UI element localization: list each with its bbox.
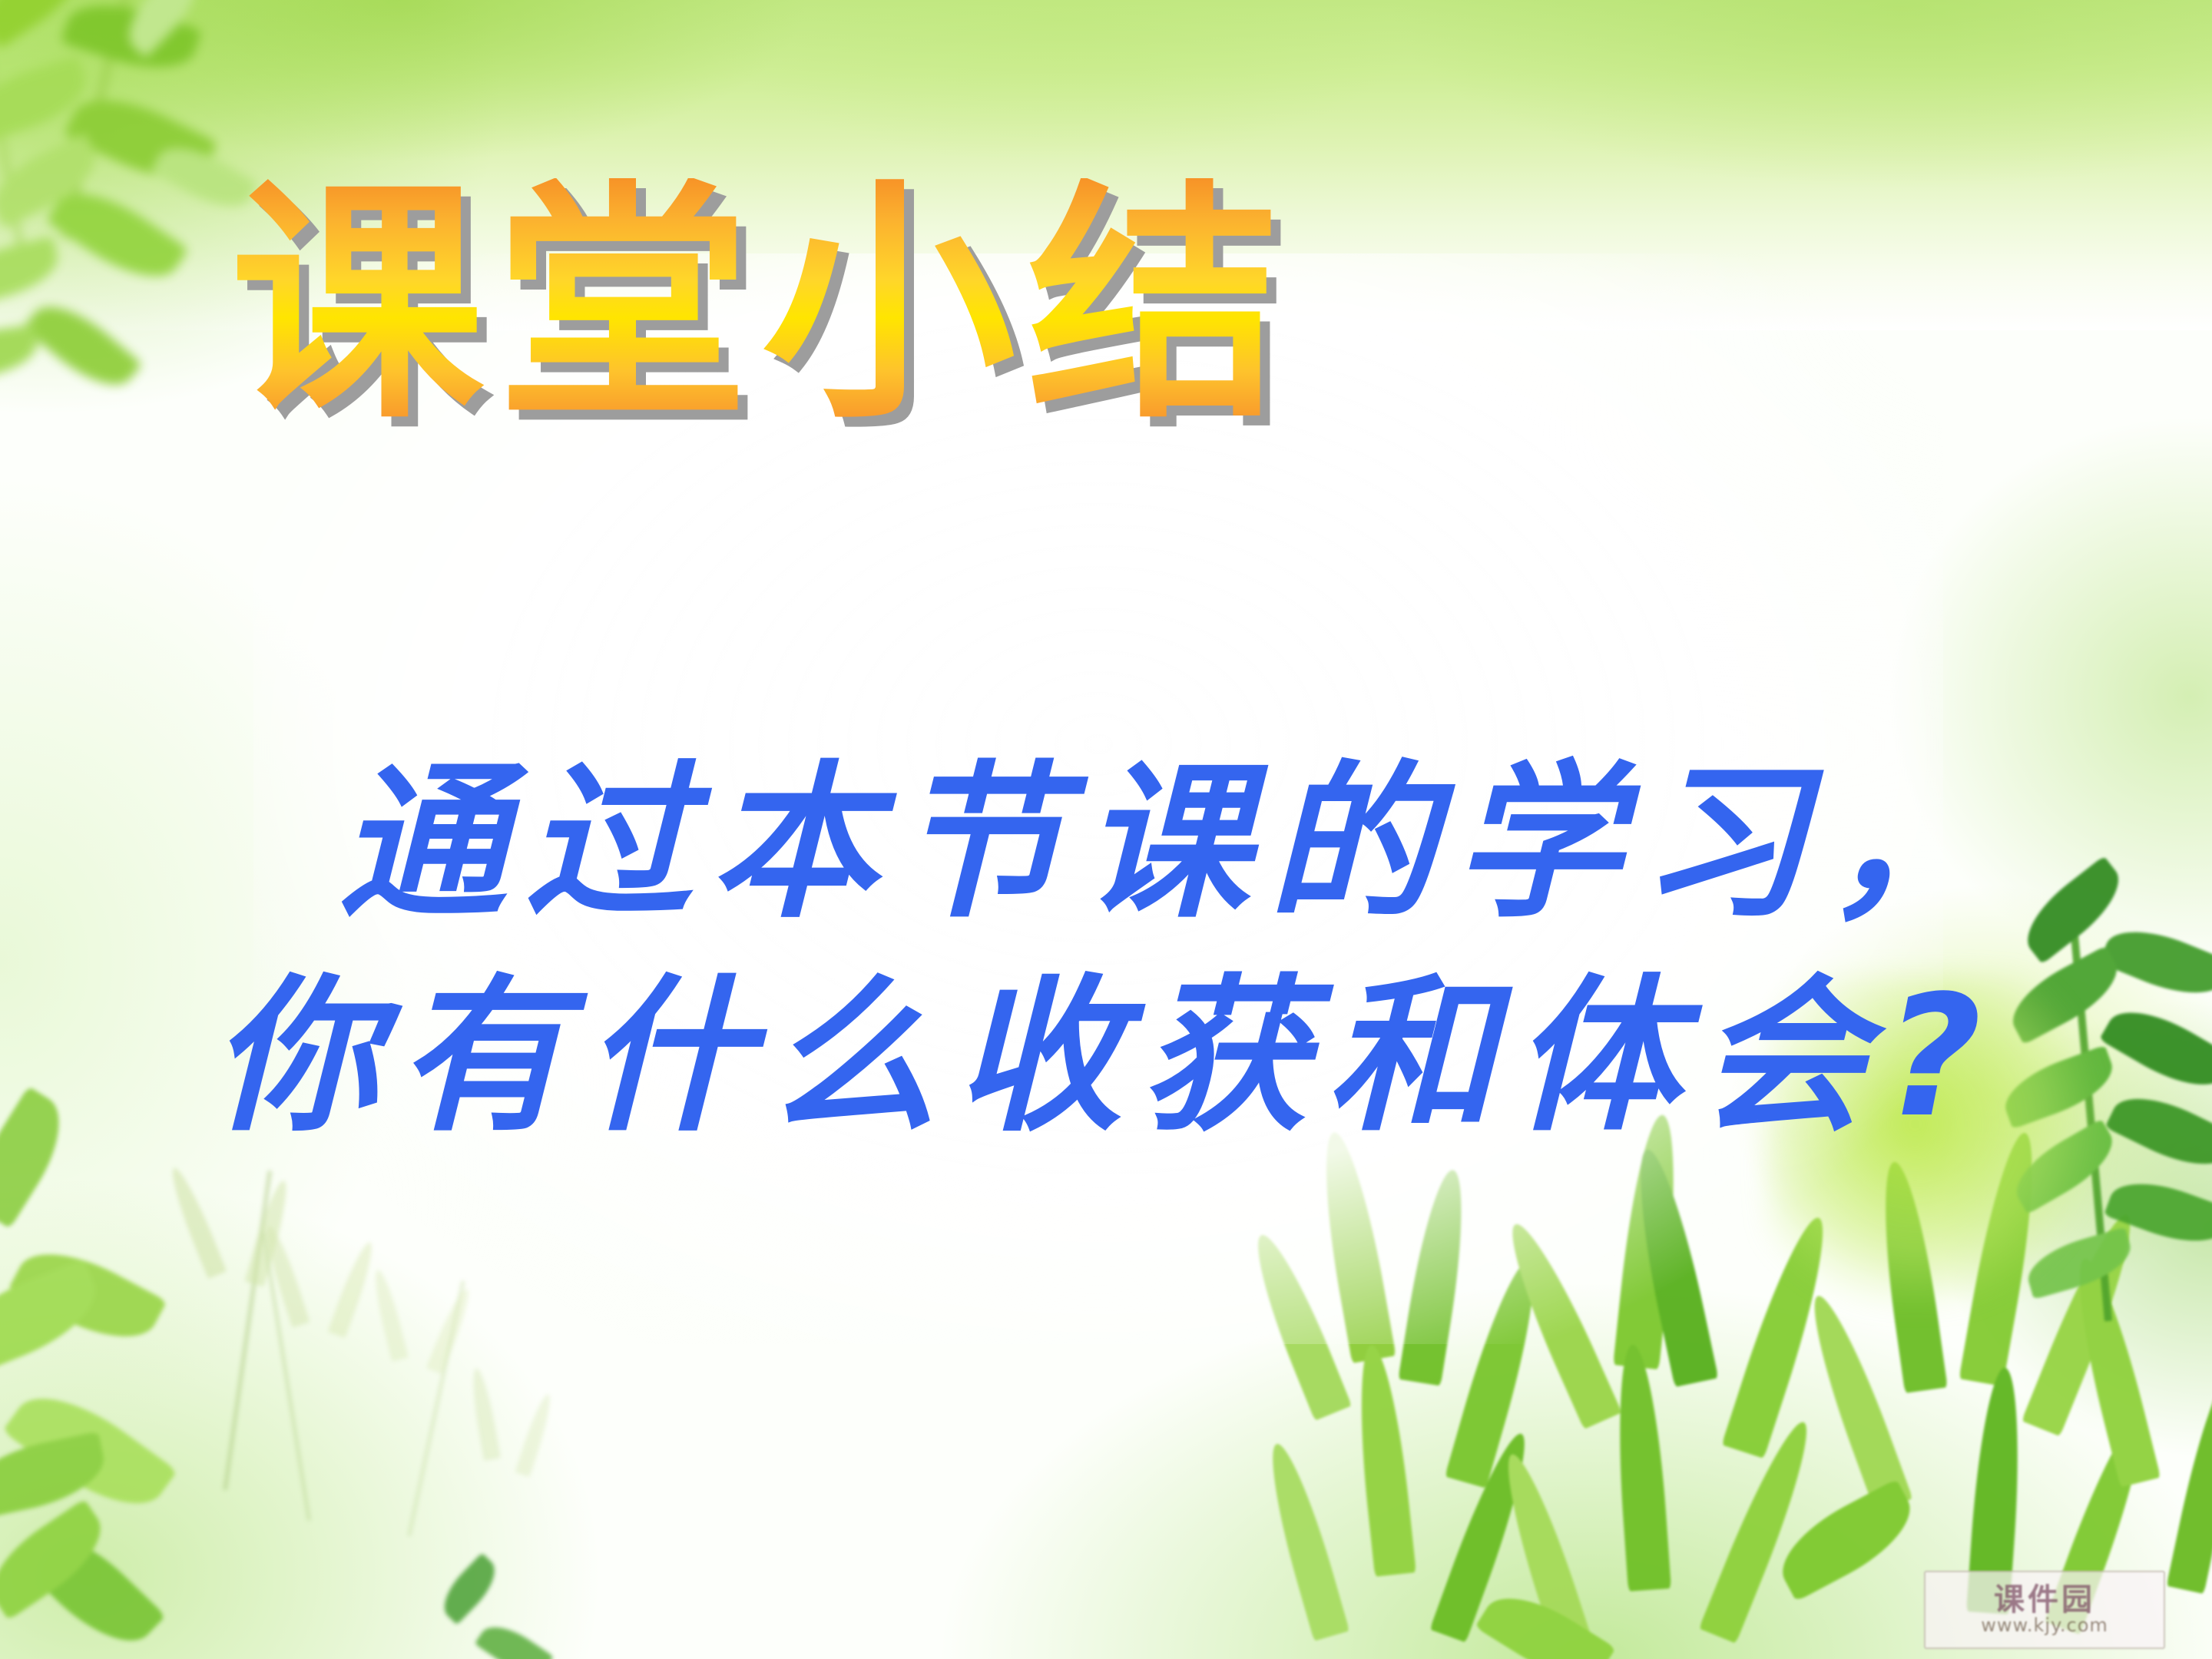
slide-body: 通过本节课的学习， 你有什么收获和体会? bbox=[0, 737, 2212, 1164]
body-line-2: 你有什么收获和体会? bbox=[0, 951, 2212, 1164]
watermark-title: 课件园 bbox=[1994, 1584, 2095, 1616]
body-line-1: 通过本节课的学习， bbox=[0, 737, 2212, 951]
watermark-url: www.kjy.com bbox=[1981, 1616, 2108, 1635]
presentation-slide: 课堂小结 通过本节课的学习， 你有什么收获和体会? 课件园 www.kjy.co… bbox=[0, 0, 2212, 1659]
slide-title: 课堂小结 bbox=[230, 178, 1293, 432]
watermark-badge: 课件园 www.kjy.com bbox=[1924, 1571, 2165, 1649]
